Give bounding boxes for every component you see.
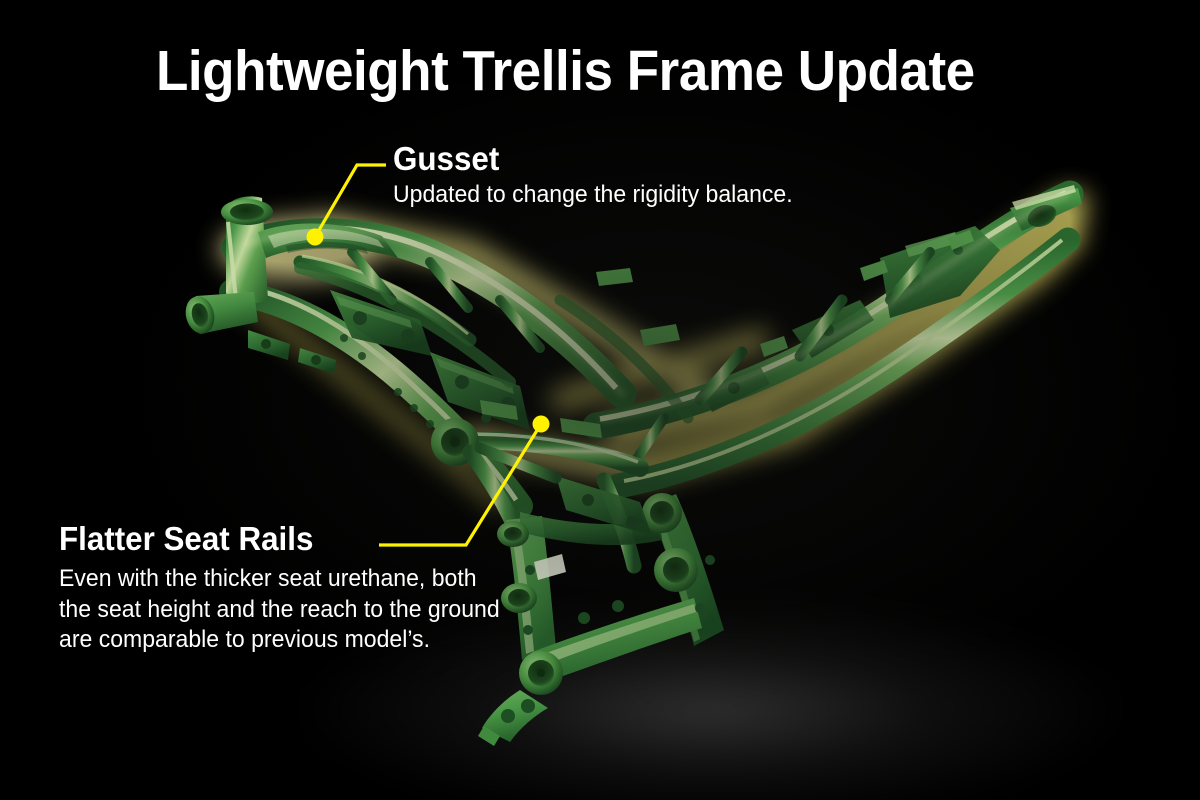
callout-gusset-body: Updated to change the rigidity balance. [393,181,793,209]
callout-seat-rails: Flatter Seat Rails Even with the thicker… [59,521,529,656]
callout-seat-rails-body: Even with the thicker seat urethane, bot… [59,564,510,656]
trellis-frame-illustration [0,0,1200,800]
callout-gusset-heading: Gusset [393,142,788,176]
callout-seat-rails-heading: Flatter Seat Rails [59,521,506,557]
callout-gusset: Gusset Updated to change the rigidity ba… [393,142,809,209]
infographic-canvas: Lightweight Trellis Frame Update Gusset … [0,0,1200,800]
page-title: Lightweight Trellis Frame Update [156,38,975,104]
